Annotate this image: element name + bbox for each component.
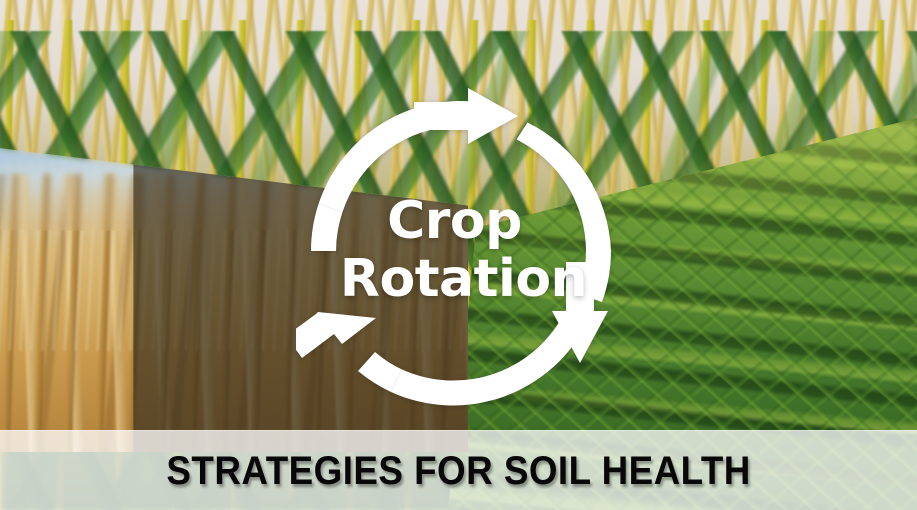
crop-rotation-poster: Crop Rotation STRATEGIES FOR SOIL HEALTH (0, 0, 917, 510)
bottom-banner: STRATEGIES FOR SOIL HEALTH (0, 430, 917, 510)
banner-headline: STRATEGIES FOR SOIL HEALTH (166, 451, 750, 491)
